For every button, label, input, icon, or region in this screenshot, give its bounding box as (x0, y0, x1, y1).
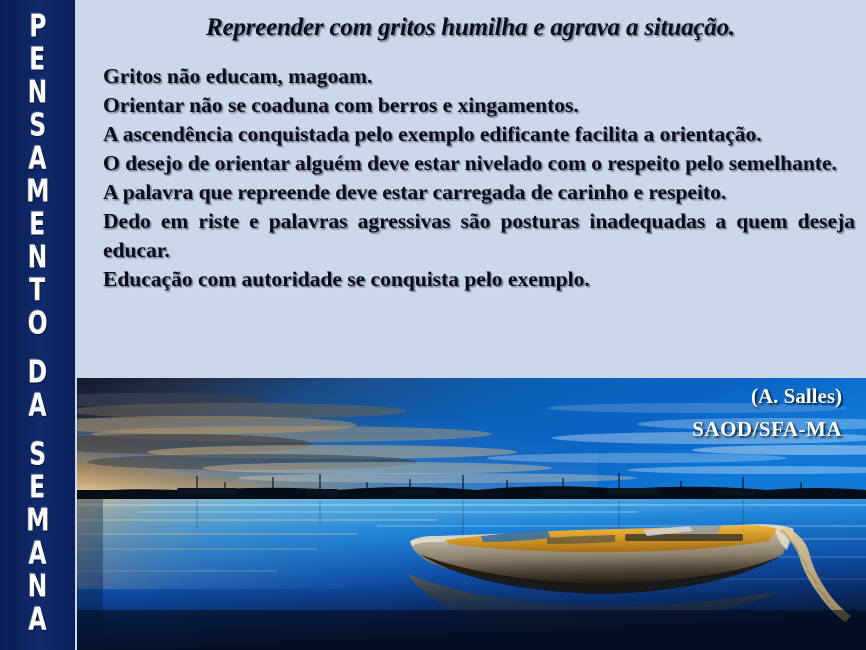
attribution-author: (A. Salles) (692, 380, 842, 413)
text-panel: Repreender com gritos humilha e agrava a… (75, 0, 866, 378)
body-line-1: Gritos não educam, magoam. (103, 62, 855, 91)
sidebar-letter: A (28, 604, 46, 635)
sidebar-letter: P (29, 11, 46, 42)
body-line-2: Orientar não se coaduna com berros e xin… (103, 91, 855, 120)
sidebar-vertical-title: PENSAMENTODASEMANA (0, 12, 75, 638)
slide-canvas: PENSAMENTODASEMANA Repreender com gritos… (0, 0, 866, 650)
sidebar-letter: N (28, 571, 48, 602)
sidebar-letter: E (30, 472, 46, 503)
sidebar-letter: S (29, 439, 46, 470)
body-line-3: A ascendência conquistada pelo exemplo e… (103, 120, 855, 149)
sidebar-letter: M (26, 505, 49, 536)
body-line-5: A palavra que repreende deve estar carre… (103, 178, 855, 207)
body-line-7: Educação com autoridade se conquista pel… (103, 265, 855, 294)
page-title: Repreender com gritos humilha e agrava a… (75, 12, 866, 44)
attribution-organization: SAOD/SFA-MA (692, 413, 842, 446)
sidebar-letter: D (28, 357, 47, 388)
sidebar-letter: A (28, 390, 46, 421)
body-line-4: O desejo de orientar alguém deve estar n… (103, 149, 855, 178)
sidebar-letter: N (28, 242, 48, 273)
sidebar-letter: M (26, 176, 49, 207)
sidebar-letter: A (28, 143, 46, 174)
sidebar-letter: O (28, 308, 48, 339)
sidebar-letter: T (30, 275, 46, 306)
sidebar-letter: E (30, 209, 46, 240)
body-text-block: Gritos não educam, magoam. Orientar não … (103, 62, 855, 294)
sidebar-letter: S (29, 110, 46, 141)
sidebar-letter: E (30, 44, 46, 75)
body-line-6: Dedo em riste e palavras agressivas são … (103, 207, 855, 265)
sidebar-letter: A (28, 538, 46, 569)
sidebar-banner: PENSAMENTODASEMANA (0, 0, 75, 650)
sidebar-letter: N (28, 77, 48, 108)
attribution-block: (A. Salles) SAOD/SFA-MA (692, 380, 842, 446)
